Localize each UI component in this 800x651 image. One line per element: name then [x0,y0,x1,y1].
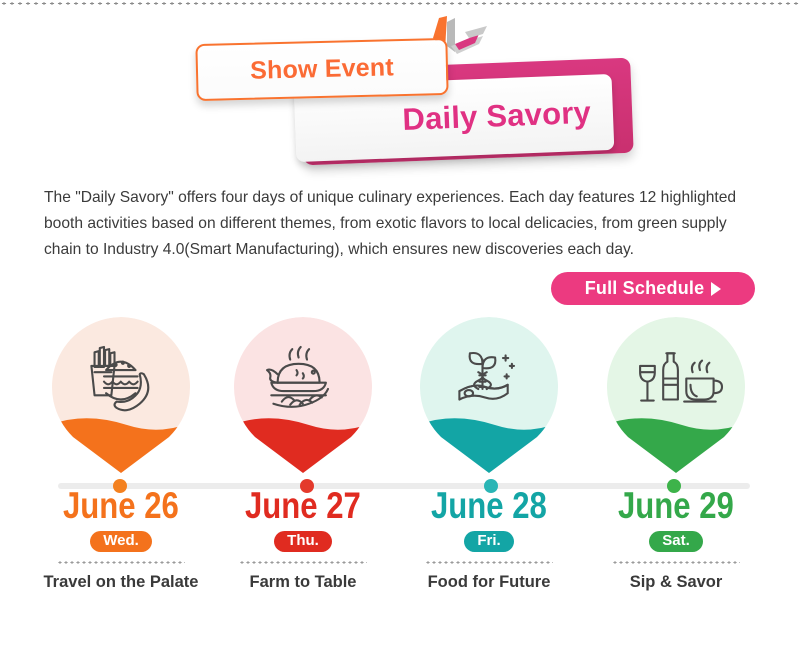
day-card[interactable]: June 29 Sat. Sip & Savor [582,313,770,643]
day-theme-label: Sip & Savor [630,573,723,592]
day-icon-pin [47,313,195,475]
day-card[interactable]: June 26 Wed. Travel on the Palate [27,313,215,643]
banner: Daily Savory Show Event [0,8,800,173]
page-title: Daily Savory [402,95,592,138]
day-date: June 28 [431,487,547,524]
weekday-badge: Wed. [90,531,152,552]
event-promo-page: Daily Savory Show Event The "Daily Savor… [0,0,800,651]
play-triangle-icon [711,282,721,296]
full-schedule-label: Full Schedule [585,278,705,299]
day-date: June 29 [618,487,734,524]
day-dotted-divider [239,561,367,564]
day-theme-label: Travel on the Palate [44,573,199,592]
day-list: June 26 Wed. Travel on the Palate [0,313,800,643]
full-schedule-button[interactable]: Full Schedule [551,272,755,305]
day-theme-label: Farm to Table [250,573,357,592]
day-card[interactable]: June 28 Fri. Food for Future [395,313,583,643]
day-card[interactable]: June 27 Thu. Farm to Table [209,313,397,643]
day-dotted-divider [57,561,185,564]
day-icon-pin [602,313,750,475]
top-dotted-divider [0,2,800,5]
day-icon-pin [229,313,377,475]
event-description: The "Daily Savory" offers four days of u… [44,185,758,263]
weekday-badge: Thu. [274,531,332,552]
description-paragraph: The "Daily Savory" offers four days of u… [44,185,758,263]
day-theme-label: Food for Future [428,573,551,592]
day-date: June 27 [245,487,361,524]
weekday-badge: Sat. [649,531,703,552]
day-dotted-divider [612,561,740,564]
show-event-tab-label: Show Event [250,53,394,86]
weekday-badge: Fri. [464,531,513,552]
day-date: June 26 [63,487,179,524]
day-dotted-divider [425,561,553,564]
day-icon-pin [415,313,563,475]
show-event-tab[interactable]: Show Event [195,38,448,101]
